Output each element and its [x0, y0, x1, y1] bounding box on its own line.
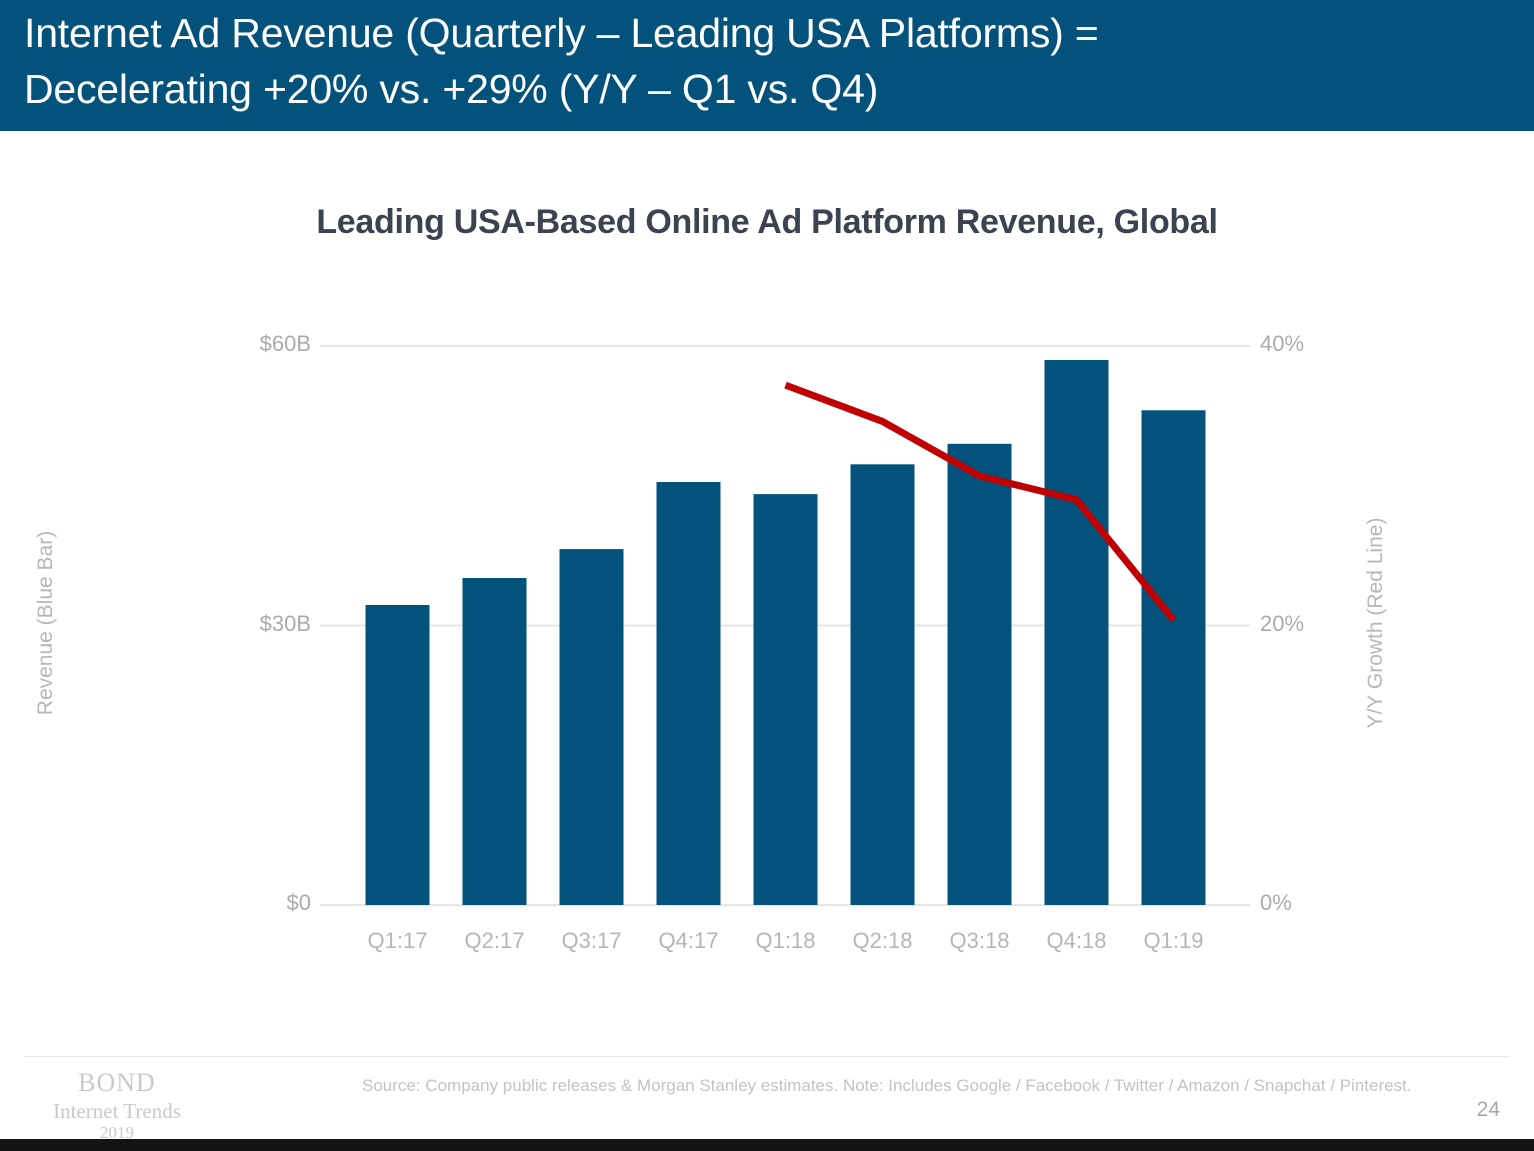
page-number: 24 [1477, 1098, 1500, 1122]
y-axis-right-tick-1: 20% [1260, 611, 1370, 637]
slide-header-banner: Internet Ad Revenue (Quarterly – Leading… [0, 0, 1534, 131]
bar-Q1-18 [754, 494, 818, 905]
y-axis-left-tick-0: $0 [201, 890, 311, 916]
slide-bottom-bar [0, 1139, 1534, 1151]
bar-Q2-18 [851, 464, 915, 905]
slide-header-title: Internet Ad Revenue (Quarterly – Leading… [24, 6, 1516, 118]
y-axis-right-tick-0: 0% [1260, 890, 1370, 916]
chart-canvas [0, 131, 1534, 1056]
bond-logo: BOND Internet Trends 2019 [22, 1068, 212, 1143]
bar-Q4-17 [657, 482, 721, 905]
bar-Q1-19 [1142, 410, 1206, 905]
bar-Q1-17 [366, 605, 430, 905]
footer-divider [24, 1056, 1510, 1057]
bar-Q3-17 [560, 549, 624, 905]
y-axis-left-tick-1: $30B [201, 611, 311, 637]
chart-plot-area: Revenue (Blue Bar) Y/Y Growth (Red Line)… [0, 131, 1534, 1056]
slide-footer: Source: Company public releases & Morgan… [0, 1056, 1534, 1151]
bond-logo-subtitle: Internet Trends [22, 1099, 212, 1124]
bond-logo-word: BOND [22, 1068, 212, 1099]
x-axis-tick-Q1-19: Q1:19 [1114, 928, 1234, 954]
bar-Q3-18 [948, 444, 1012, 905]
slide-body: Leading USA-Based Online Ad Platform Rev… [0, 131, 1534, 1056]
y-axis-right-tick-2: 40% [1260, 331, 1370, 357]
y-axis-left-tick-2: $60B [201, 331, 311, 357]
bar-Q4-18 [1045, 360, 1109, 905]
source-note: Source: Company public releases & Morgan… [362, 1076, 1412, 1096]
bar-Q2-17 [463, 578, 527, 905]
